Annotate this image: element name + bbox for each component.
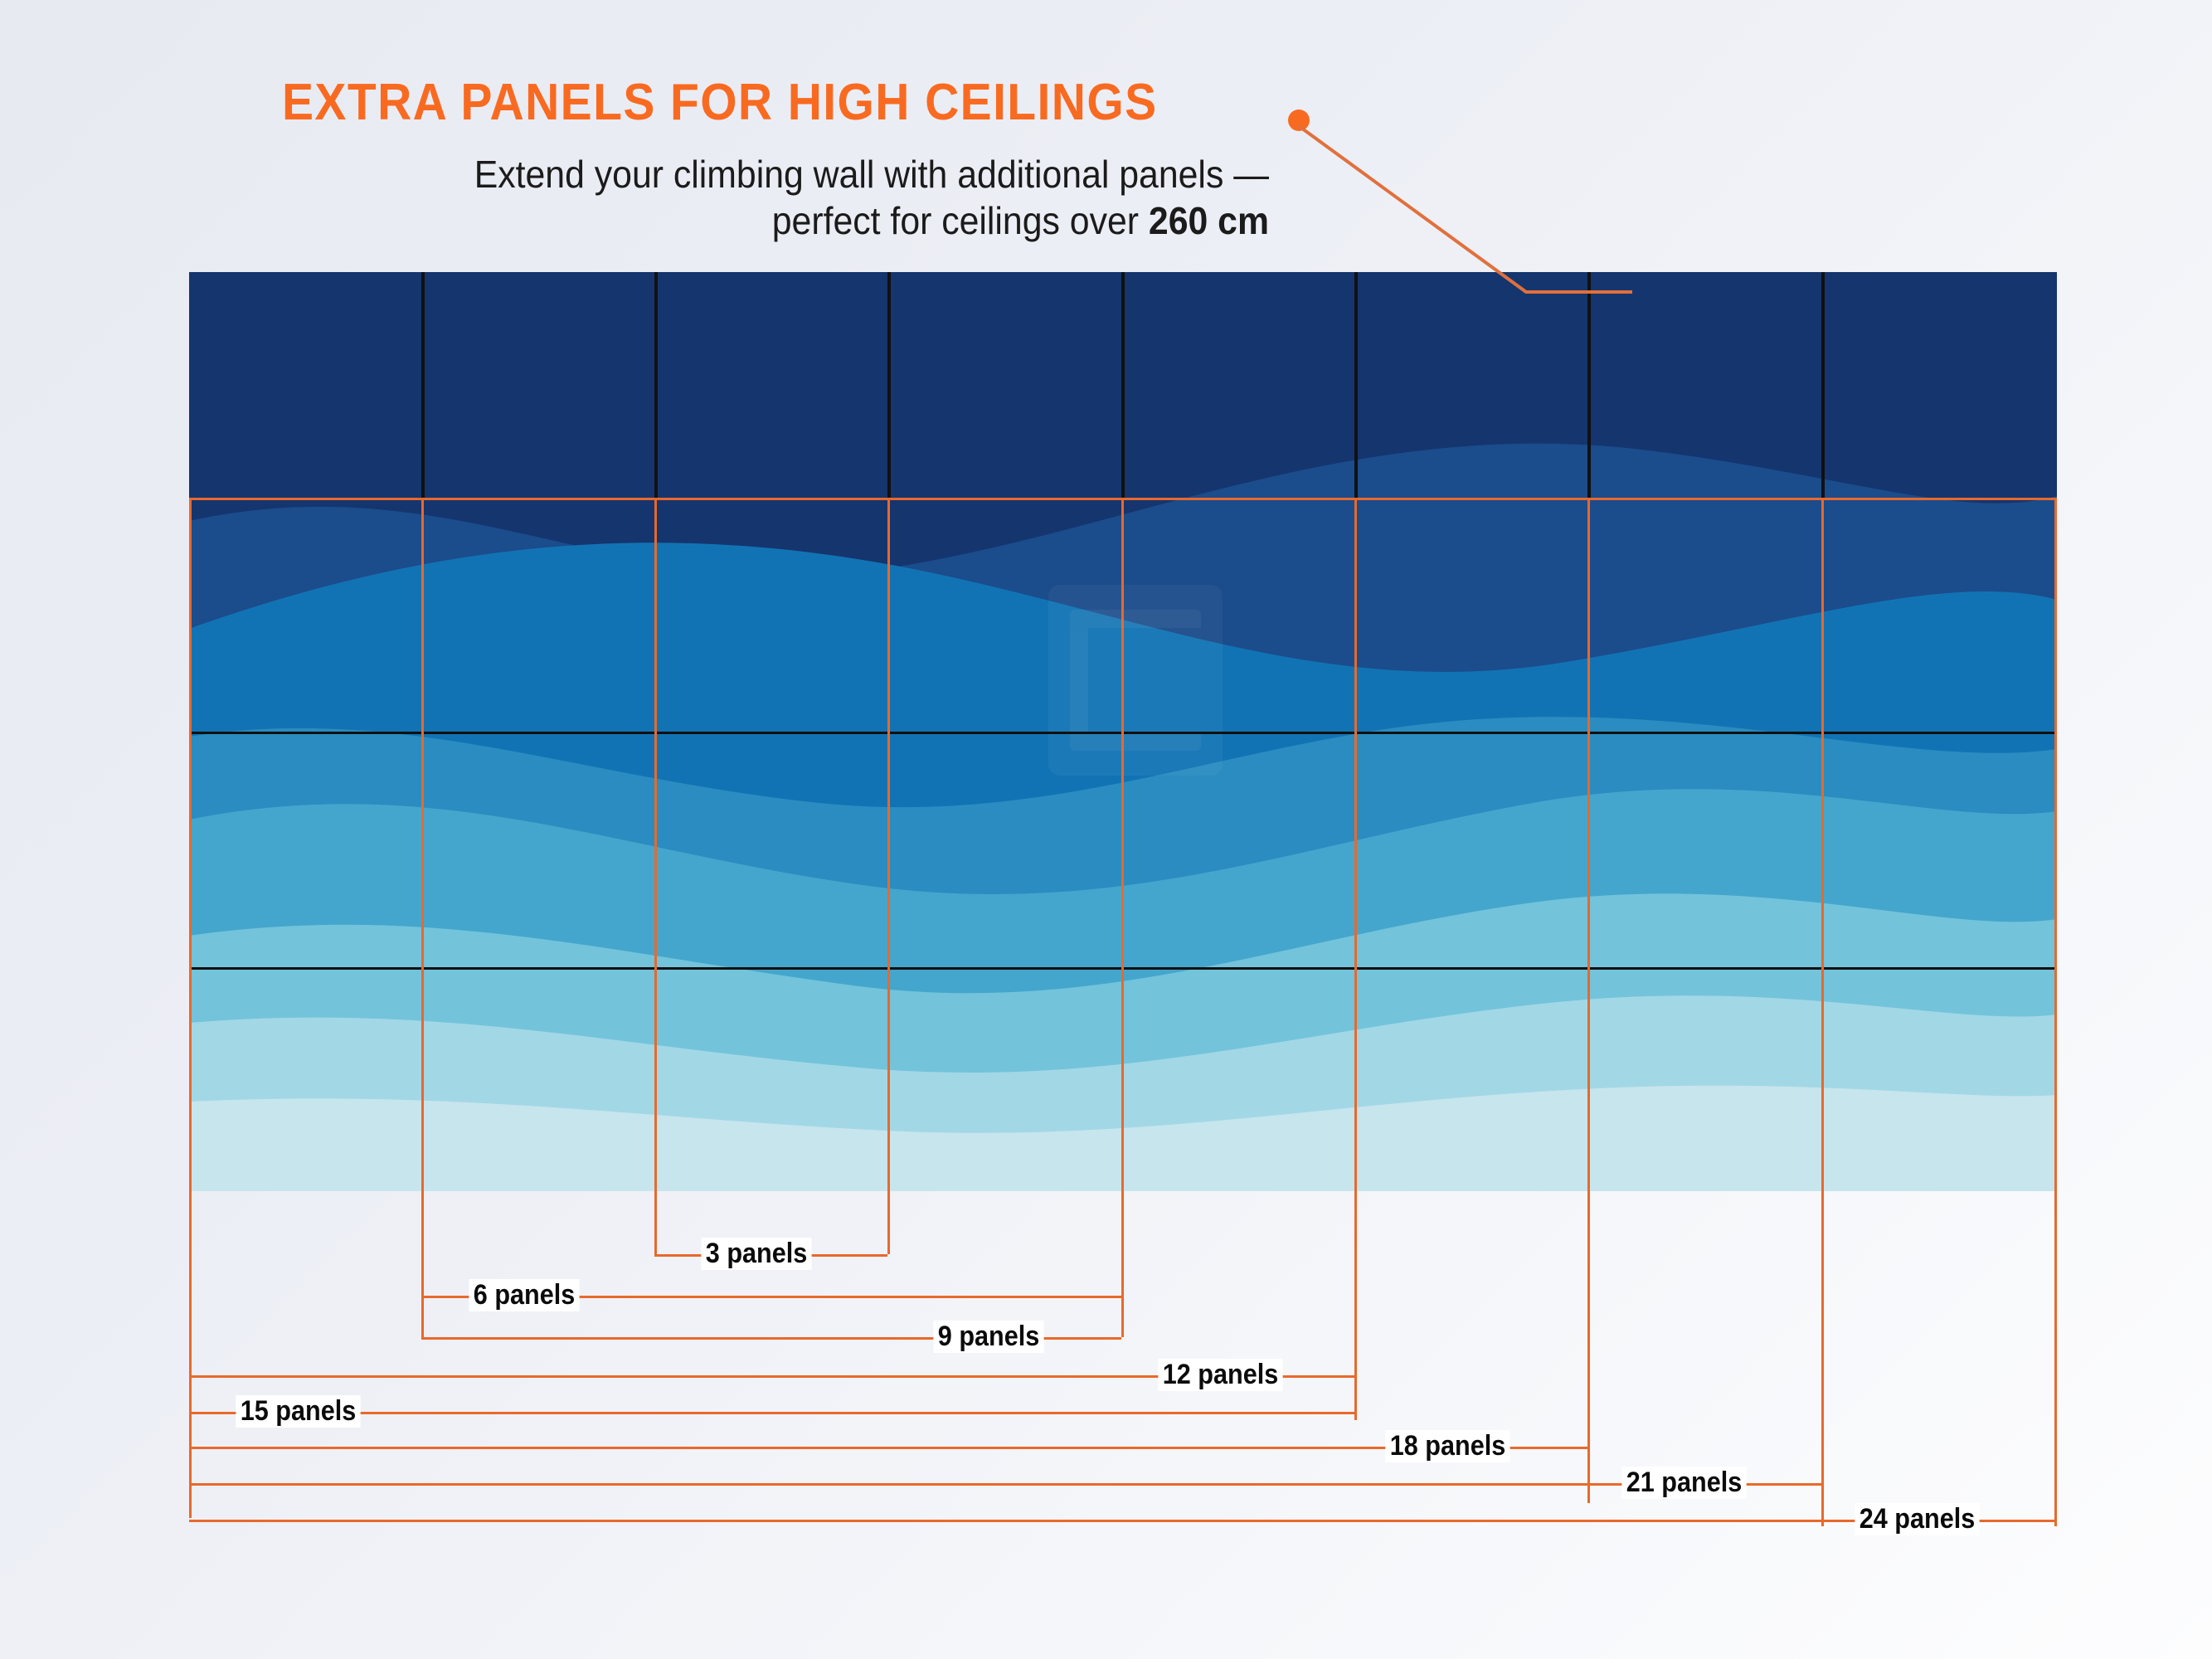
wall-divider-vertical-orange-0 [189, 498, 192, 1518]
wall-divider-vertical-black-3 [887, 272, 891, 499]
wall-divider-vertical-orange-5 [1354, 498, 1357, 1420]
wall-divider-vertical-black-2 [654, 272, 658, 499]
wall-divider-vertical-orange-3 [887, 498, 890, 1254]
wall-divider-vertical-black-4 [1121, 272, 1125, 499]
poster-canvas: EXTRA PANELS FOR HIGH CEILINGS Extend yo… [0, 0, 2212, 1659]
leader-label-3: 3 panels [701, 1238, 811, 1270]
subtitle-line-1: Extend your climbing wall with additiona… [474, 153, 1269, 196]
page-subtitle: Extend your climbing wall with additiona… [266, 151, 1269, 244]
wall-divider-vertical-black-7 [1821, 272, 1825, 499]
wall-divider-vertical-black-1 [421, 272, 425, 499]
leader-line-24 [189, 1520, 2054, 1522]
ceiling-height-value: 260 cm [1149, 199, 1269, 242]
wall-divider-vertical-orange-6 [1587, 498, 1590, 1503]
wall-divider-vertical-black-6 [1587, 272, 1591, 499]
callout-dot [1288, 109, 1310, 131]
wall-divider-vertical-black-5 [1354, 272, 1358, 499]
leader-line-21 [189, 1483, 1821, 1486]
leader-line-15 [189, 1412, 1354, 1414]
leader-label-9: 9 panels [933, 1321, 1043, 1353]
leader-label-12: 12 panels [1158, 1359, 1282, 1391]
callout-leader-line [1299, 126, 1632, 292]
wall-divider-vertical-orange-4 [1121, 498, 1124, 1337]
brand-watermark [1048, 585, 1223, 776]
leader-label-18: 18 panels [1385, 1430, 1510, 1462]
leader-label-24: 24 panels [1855, 1503, 1979, 1535]
leader-label-6: 6 panels [469, 1279, 579, 1311]
wall-divider-vertical-orange-8 [2054, 498, 2057, 1526]
leader-line-18 [189, 1447, 1587, 1449]
wall-divider-vertical-orange-2 [654, 498, 657, 1254]
wall-divider-vertical-orange-7 [1821, 498, 1824, 1526]
leader-label-15: 15 panels [236, 1395, 360, 1428]
page-title: EXTRA PANELS FOR HIGH CEILINGS [282, 73, 1158, 132]
subtitle-line-2: perfect for ceilings over 260 cm [772, 199, 1269, 242]
leader-label-21: 21 panels [1621, 1467, 1746, 1499]
subtitle-line-2-prefix: perfect for ceilings over [772, 199, 1149, 242]
wall-divider-vertical-orange-1 [421, 498, 424, 1337]
